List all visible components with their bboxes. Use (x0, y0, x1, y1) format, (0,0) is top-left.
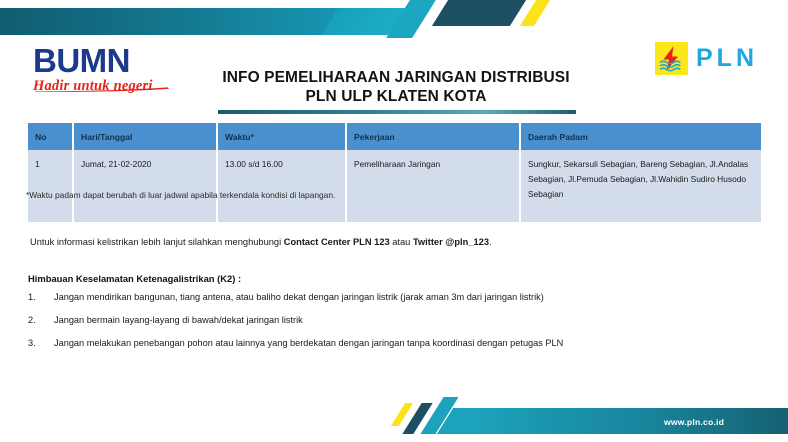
column-header-waktu: Waktu* (217, 123, 346, 150)
page-title-line-2: PLN ULP KLATEN KOTA (196, 87, 596, 106)
page-title-line-1: INFO PEMELIHARAAN JARINGAN DISTRIBUSI (196, 68, 596, 87)
outage-schedule-table: No Hari/Tanggal Waktu* Pekerjaan Daerah … (28, 123, 761, 222)
column-header-hari-tanggal: Hari/Tanggal (73, 123, 217, 150)
pln-logo: PLN (655, 42, 758, 75)
header-decoration-banner (0, 0, 788, 42)
list-item-number: 2. (28, 314, 54, 326)
cell-waktu: 13.00 s/d 16.00 (217, 150, 346, 222)
footer-website-url: www.pln.co.id (664, 417, 724, 427)
list-item-text: Jangan mendirikan bangunan, tiang antena… (54, 291, 768, 303)
list-item: 2. Jangan bermain layang-layang di bawah… (28, 314, 768, 326)
header-stripe-yellow-icon (520, 0, 550, 26)
table-header-row: No Hari/Tanggal Waktu* Pekerjaan Daerah … (28, 123, 761, 150)
bumn-wordmark: BUMN (33, 44, 178, 77)
contact-info-line: Untuk informasi kelistrikan lebih lanjut… (30, 237, 492, 247)
twitter-handle-label: Twitter @pln_123 (413, 237, 489, 247)
header-stripe-navy-icon (432, 0, 526, 26)
table-footnote: *Waktu padam dapat berubah di luar jadwa… (26, 190, 335, 200)
column-header-pekerjaan: Pekerjaan (346, 123, 520, 150)
cell-daerah-padam: Sungkur, Sekarsuli Sebagian, Bareng Seba… (520, 150, 761, 222)
pln-wordmark: PLN (696, 46, 758, 71)
cell-hari-tanggal: Jumat, 21-02-2020 (73, 150, 217, 222)
pln-lightning-icon (655, 42, 688, 75)
page-title: INFO PEMELIHARAAN JARINGAN DISTRIBUSI PL… (196, 68, 596, 106)
title-underline-rule (218, 110, 576, 114)
list-item: 1. Jangan mendirikan bangunan, tiang ant… (28, 291, 768, 303)
list-item-text: Jangan bermain layang-layang di bawah/de… (54, 314, 768, 326)
column-header-no: No (28, 123, 73, 150)
contact-prefix-text: Untuk informasi kelistrikan lebih lanjut… (30, 237, 284, 247)
footer-teal-bar (470, 408, 788, 434)
bumn-swoosh-icon (35, 87, 170, 92)
footer-decoration-banner: www.pln.co.id (0, 392, 788, 442)
bumn-logo: BUMN Hadir untuk negeri (33, 44, 178, 90)
list-item-number: 3. (28, 337, 54, 349)
list-item-text: Jangan melakukan penebangan pohon atau l… (54, 337, 768, 349)
list-item-number: 1. (28, 291, 54, 303)
cell-pekerjaan: Pemeliharaan Jaringan (346, 150, 520, 222)
column-header-daerah-padam: Daerah Padam (520, 123, 761, 150)
safety-section-heading: Himbauan Keselamatan Ketenagalistrikan (… (28, 273, 241, 284)
list-item: 3. Jangan melakukan penebangan pohon ata… (28, 337, 768, 349)
cell-no: 1 (28, 150, 73, 222)
contact-middle-text: atau (390, 237, 413, 247)
safety-guidelines-list: 1. Jangan mendirikan bangunan, tiang ant… (28, 291, 768, 360)
contact-center-label: Contact Center PLN 123 (284, 237, 390, 247)
contact-suffix-text: . (489, 237, 492, 247)
table-row: 1 Jumat, 21-02-2020 13.00 s/d 16.00 Peme… (28, 150, 761, 222)
